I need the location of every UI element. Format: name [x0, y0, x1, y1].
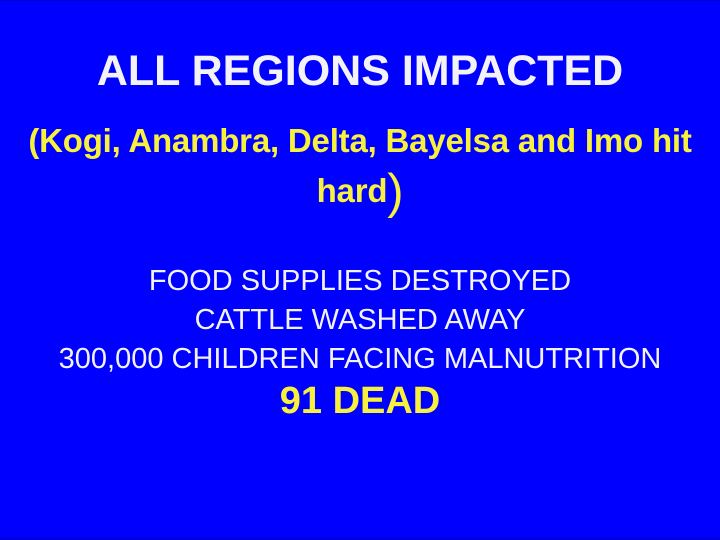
- presentation-slide: ALL REGIONS IMPACTED (Kogi, Anambra, Del…: [0, 0, 720, 540]
- slide-title: ALL REGIONS IMPACTED: [30, 48, 690, 94]
- subtitle-open-paren: (: [28, 122, 39, 159]
- subtitle-close-paren: ): [387, 165, 403, 219]
- body-block: FOOD SUPPLIES DESTROYED CATTLE WASHED AW…: [10, 262, 710, 423]
- body-line: CATTLE WASHED AWAY: [10, 301, 710, 340]
- body-line: FOOD SUPPLIES DESTROYED: [10, 262, 710, 301]
- slide-subtitle: (Kogi, Anambra, Delta, Bayelsa and Imo h…: [22, 116, 698, 216]
- slide-top-edge: [0, 0, 720, 1]
- body-line-emphasis: 91 DEAD: [10, 379, 710, 423]
- body-line: 300,000 CHILDREN FACING MALNUTRITION: [10, 340, 710, 379]
- title-block: ALL REGIONS IMPACTED: [30, 48, 690, 94]
- subtitle-block: (Kogi, Anambra, Delta, Bayelsa and Imo h…: [22, 116, 698, 216]
- subtitle-text: Kogi, Anambra, Delta, Bayelsa and Imo hi…: [39, 122, 692, 209]
